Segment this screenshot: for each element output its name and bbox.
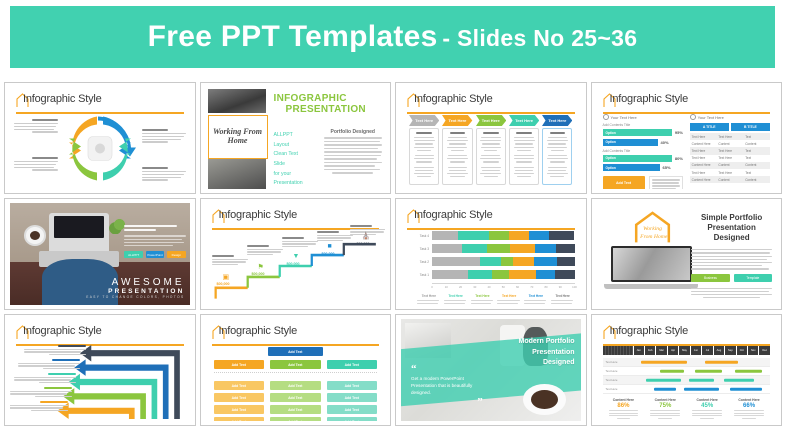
tick: 50 [502, 285, 505, 289]
slide-title-text-7: Infographic Style [414, 209, 493, 221]
org-child-box[interactable]: Add Text [327, 417, 378, 421]
table-row: Content HereContentContent [690, 140, 770, 147]
stat-value: 86% [603, 403, 645, 409]
bar-row: Option 65% [603, 164, 683, 171]
quote-open-mark: “ [411, 366, 483, 373]
cell: Text Here [716, 133, 743, 140]
heading-line-2: Presentation [519, 348, 575, 359]
cell: Text Here [716, 147, 743, 154]
legend-item: Text Here [444, 294, 468, 305]
cell: Content Here [690, 162, 717, 169]
title-underline [212, 344, 380, 346]
pin-icon: ▼ [293, 253, 300, 260]
stat-item: Content Here 45% [686, 398, 728, 419]
gantt-chart: Jan Feb Mar Apr May Jun Jul Aug Sep Oct … [603, 346, 771, 418]
slide-title-text-6: Infographic Style [219, 209, 298, 221]
heading-line-2: Presentation [691, 223, 772, 233]
org-mid-box[interactable]: Add Text [327, 360, 378, 369]
cell: Text Here [690, 133, 717, 140]
frame-text-line2: Home [227, 136, 247, 145]
step-value-5: $00,000 [357, 242, 370, 246]
chart-legend: Text Here Text Here Text Here Text Here … [417, 294, 575, 305]
banner-title-sub: - Slides No 25~36 [442, 25, 637, 51]
bar-label: Option [606, 131, 616, 135]
slide-thumbnail-5[interactable]: ALLPPT PowerPoint Design AWESOME PRESENT… [4, 198, 196, 310]
banner-title-main: Free PPT Templates [148, 20, 438, 53]
list-item: Layout [274, 141, 316, 151]
table-row: Text HereText HereText [690, 133, 770, 140]
list-item: Presentation [274, 179, 316, 189]
template-button[interactable]: Template [734, 274, 772, 282]
slide-gallery-page: Free PPT Templates - Slides No 25~36 Inf… [0, 0, 786, 430]
button-row: Add Text [603, 176, 683, 189]
callout-text-4 [142, 167, 186, 182]
row-label: Text Here [603, 387, 636, 391]
month-cell: Aug [714, 346, 724, 355]
org-mid-box[interactable]: Add Text [214, 360, 265, 369]
coffee-cup [523, 384, 566, 415]
heading-line-1: Simple Portfolio [691, 213, 772, 223]
button-row: Business Template [691, 274, 772, 282]
bar-percent: 65% [663, 165, 671, 170]
frame-text-line1: Working From [213, 127, 262, 136]
gantt-row: Text Here [603, 358, 771, 367]
feature-list: ALLPPT Layout Clean Text Slide for your … [274, 131, 316, 189]
tick: 80 [544, 285, 547, 289]
column-1: Text Here [409, 115, 439, 185]
org-child-box[interactable]: Add Text [270, 381, 321, 390]
headline-block: AWESOME PRESENTATION EASY TO CHANGE COLO… [86, 277, 184, 299]
tick: 60 [516, 285, 519, 289]
list-item: Clean Text [274, 150, 316, 160]
arrow-text-4 [10, 387, 72, 399]
screen-photo [613, 248, 690, 280]
table-header-cell: A TITLE [690, 123, 729, 131]
step-value-4: $00,000 [322, 252, 335, 256]
month-cell: Oct [737, 346, 747, 355]
month-cell: Jan [634, 346, 644, 355]
org-child-box[interactable]: Add Text [327, 381, 378, 390]
slide-thumbnail-12[interactable]: Infographic Style Jan Feb Mar Apr May Ju… [591, 314, 783, 426]
banner-title: Free PPT Templates - Slides No 25~36 [148, 20, 638, 54]
org-chart: Add Text Add Text Add Text Add Text Add … [214, 347, 378, 417]
staircase-diagram: $00,000 $00,000 $00,000 $00,000 $00,000 … [210, 229, 382, 303]
stat-title: Content Here [728, 398, 770, 402]
org-child-row: Add Text Add Text Add Text [214, 381, 378, 390]
tick: 10 [445, 285, 448, 289]
tick: 0 [431, 285, 433, 289]
portfolio-text-panel: Simple Portfolio Presentation Designed B… [691, 213, 772, 298]
title-underline [407, 112, 575, 114]
coffee-cup [24, 225, 46, 245]
slide-thumbnail-9[interactable]: Infographic Style [4, 314, 196, 426]
cell: Content [743, 140, 770, 147]
step-text-3 [282, 237, 320, 249]
arrow-text-3 [14, 373, 76, 385]
table-row: Text HereText HereText [690, 155, 770, 162]
column-header-3: Text Here [476, 115, 506, 126]
tick: 70 [530, 285, 533, 289]
slide-title-text-10: Infographic Style [219, 325, 298, 337]
column-3: Text Here [476, 115, 506, 185]
left-caption: Your Text Here [603, 114, 683, 120]
column-header-label: Text Here [448, 118, 466, 123]
stats-row: Content Here 86% Content Here 75% Conten… [603, 398, 771, 419]
month-cell: Nov [748, 346, 758, 355]
cell: Content [716, 162, 743, 169]
chart-row: Task 3 [407, 244, 575, 253]
month-cell: Feb [645, 346, 655, 355]
row-label: Text Here [603, 360, 636, 364]
table-row: Content HereContentContent [690, 162, 770, 169]
slide-title-10: Infographic Style [212, 324, 380, 346]
gantt-row: Text Here [603, 367, 771, 376]
quote-close-mark: ” [411, 399, 483, 406]
headline: AWESOME [86, 277, 184, 288]
cell: Text [743, 147, 770, 154]
cell: Text Here [690, 169, 717, 176]
step-value-3: $00,000 [287, 262, 300, 266]
list-item: for your [274, 170, 316, 180]
cell: Content [716, 140, 743, 147]
row-label: Task 3 [407, 247, 432, 251]
bar-row: Option 80% [603, 155, 683, 162]
title-underline [407, 228, 575, 230]
bar-percent: 40% [661, 140, 669, 145]
row-label: Text Here [603, 369, 636, 373]
stat-item: Content Here 66% [728, 398, 770, 419]
slide-title-text-1: Infographic Style [23, 93, 102, 105]
gantt-track [636, 358, 771, 366]
stat-title: Content Here [686, 398, 728, 402]
tick: 20 [459, 285, 462, 289]
cell: Content Here [690, 176, 717, 183]
column-header-5: Text Here [542, 115, 572, 126]
gift-icon: ▣ [223, 273, 230, 281]
group-subtitle-2: Add Contents Title [603, 149, 683, 153]
circular-process-diagram [10, 113, 190, 189]
legend-item: Text Here [417, 294, 441, 305]
photo-stack: Working From Home [208, 89, 266, 187]
month-cell: Jun [691, 346, 701, 355]
org-mid-box[interactable]: Add Text [270, 360, 321, 369]
slide-thumbnail-4[interactable]: Infographic Style Your Text Here Add Con… [591, 82, 783, 194]
bar-percent: 95% [675, 130, 683, 135]
column-body-2 [442, 128, 472, 185]
right-caption: Your Text Here [690, 114, 770, 120]
slide-thumbnail-6[interactable]: Infographic Style $00,000 $00,000 $00,00… [200, 198, 392, 310]
step-text-2 [247, 245, 285, 257]
working-from-home-frame: Working From Home [208, 115, 268, 159]
stat-value: 66% [728, 403, 770, 409]
tag-button[interactable]: ALLPPT [124, 251, 142, 258]
legend-item: Text Here [497, 294, 521, 305]
quote-block: “ Get a modern PowerPoint Presentation t… [411, 366, 483, 405]
building-icon: ⛪ [362, 232, 371, 240]
photo-top [208, 89, 266, 113]
page-banner: Free PPT Templates - Slides No 25~36 [10, 6, 775, 68]
legend-label: Text Here [524, 294, 548, 298]
chart-x-axis: 0 10 20 30 40 50 60 70 80 90 100 [432, 283, 575, 292]
arrow-text-2 [18, 359, 80, 371]
cell: Text [743, 169, 770, 176]
cell: Text [743, 133, 770, 140]
step-text-1 [212, 255, 250, 267]
org-top-row: Add Text [214, 347, 378, 356]
column-body-5 [542, 128, 572, 185]
stat-title: Content Here [603, 398, 645, 402]
arrow-text-1 [24, 345, 86, 357]
column-header-2: Text Here [442, 115, 472, 126]
heading-line-3: Designed [691, 233, 772, 243]
stat-value: 45% [686, 403, 728, 409]
laptop-mockup [611, 246, 692, 289]
slide-title-2: INFOGRAPHIC PRESENTATION [274, 93, 382, 115]
legend-item: Text Here [551, 294, 575, 305]
bar-percent: 80% [675, 156, 683, 161]
desk-photo: Modern Portfolio Presentation Designed “… [401, 319, 581, 421]
stat-item: Content Here 75% [644, 398, 686, 419]
tag-button[interactable]: Design [167, 251, 185, 258]
month-cell: Dec [759, 346, 769, 355]
row-label: Task 2 [407, 260, 432, 264]
business-button[interactable]: Business [691, 274, 729, 282]
tagline: EASY TO CHANGE COLORS, PHOTOS [86, 295, 184, 299]
column-2: Text Here [442, 115, 472, 185]
column-header-label: Text Here [515, 118, 533, 123]
title-line-2: PRESENTATION [286, 104, 382, 115]
list-item: Slide [274, 160, 316, 170]
row-label: Text Here [603, 378, 636, 382]
legend-label: Text Here [417, 294, 441, 298]
cell: Content [743, 162, 770, 169]
column-body-1 [409, 128, 439, 185]
org-child-box[interactable]: Add Text [270, 393, 321, 402]
step-value-2: $00,000 [252, 272, 265, 276]
title-line-1: INFOGRAPHIC [274, 93, 382, 104]
cell: Text Here [690, 155, 717, 162]
circle-bullet-icon [603, 114, 609, 120]
bar-label: Option [606, 156, 616, 160]
gantt-row: Text Here [603, 385, 771, 394]
cell: Content [716, 176, 743, 183]
legend-item: Text Here [524, 294, 548, 305]
thumbnail-grid: Infographic Style [4, 82, 782, 426]
portfolio-paragraph: Portfolio Designed [324, 129, 383, 174]
table-header-row: A TITLE B TITLE [690, 123, 770, 131]
table-row: Content HereContentContent [690, 176, 770, 183]
add-text-button[interactable]: Add Text [603, 176, 645, 189]
column-5: Text Here [542, 115, 572, 185]
tick: 100 [572, 285, 577, 289]
tick: 30 [473, 285, 476, 289]
briefcase-icon: ■ [328, 243, 332, 250]
column-body-4 [509, 128, 539, 185]
legend-label: Text Here [444, 294, 468, 298]
photo-bottom [208, 159, 266, 189]
laptop-screen [49, 213, 108, 254]
five-column-layout: Text Here Text Here [409, 115, 573, 185]
legend-label: Text Here [551, 294, 575, 298]
progress-bars-panel: Your Text Here Add Contents Title Option… [603, 114, 683, 189]
org-child-box[interactable]: Add Text [214, 405, 265, 414]
tick: 90 [559, 285, 562, 289]
progress-and-table-area: Your Text Here Add Contents Title Option… [603, 114, 771, 185]
table-row: Text HereText HereText [690, 169, 770, 176]
stacked-bar [432, 270, 575, 279]
heading-line-1: Modern Portfolio [519, 337, 575, 348]
callout-text-2 [14, 157, 58, 172]
chart-row: Task 2 [407, 257, 575, 266]
callout-text-1 [14, 119, 58, 134]
slide-thumbnail-11[interactable]: Modern Portfolio Presentation Designed “… [395, 314, 587, 426]
slide-thumbnail-10[interactable]: Infographic Style Add Text Add Text Add … [200, 314, 392, 426]
month-cell: Jul [702, 346, 712, 355]
bar-row: Option 95% [603, 129, 683, 136]
slide-title-3: Infographic Style [407, 92, 575, 114]
circular-arrows [61, 113, 139, 190]
slide-title-4: Infographic Style [603, 92, 771, 114]
slide-title-12: Infographic Style [603, 324, 771, 346]
legend-label: Text Here [497, 294, 521, 298]
month-cell: Sep [725, 346, 735, 355]
laptop-base [604, 284, 698, 289]
footer-paragraph [691, 288, 772, 299]
subheadline: PRESENTATION [86, 288, 184, 295]
org-child-box[interactable]: Add Text [327, 405, 378, 414]
slide-title-text-9: Infographic Style [23, 325, 102, 337]
body-paragraph [691, 249, 772, 269]
slide-title-9: Infographic Style [16, 324, 184, 346]
left-caption-text: Your Text Here [611, 115, 637, 120]
overlay-text-block: ALLPPT PowerPoint Design [124, 225, 185, 258]
stacked-bar-chart: Task 4 Task 3 Task 2 [407, 231, 575, 301]
gantt-row: Text Here [603, 376, 771, 385]
row-label: Task 1 [407, 273, 432, 277]
callout-text-3 [142, 129, 186, 144]
cell: Text Here [716, 169, 743, 176]
org-child-box[interactable]: Add Text [214, 381, 265, 390]
list-item: ALLPPT [274, 131, 316, 141]
stat-title: Content Here [644, 398, 686, 402]
cell: Content Here [690, 140, 717, 147]
arrow-text-5 [10, 401, 68, 413]
column-body-3 [476, 128, 506, 185]
slide-thumbnail-3[interactable]: Infographic Style Text Here [395, 82, 587, 194]
group-subtitle-1: Add Contents Title [603, 123, 683, 127]
circle-bullet-icon [690, 114, 696, 120]
heading-block: Modern Portfolio Presentation Designed [519, 337, 575, 369]
bar-label: Option [606, 140, 616, 144]
slide-thumbnail-8[interactable]: Working From Home Simple Portfolio Prese… [591, 198, 783, 310]
chart-row: Task 4 [407, 231, 575, 240]
chart-row: Task 1 [407, 270, 575, 279]
svg-text:From Home: From Home [639, 234, 668, 240]
laptop-screen [611, 246, 692, 282]
tag-button-row: ALLPPT PowerPoint Design [124, 251, 185, 258]
org-mid-row: Add Text Add Text Add Text [214, 360, 378, 369]
slide-title-text-3: Infographic Style [414, 93, 493, 105]
stacked-bar [432, 231, 575, 240]
svg-text:Working: Working [643, 226, 662, 232]
working-from-home-logo: Working From Home [622, 211, 683, 244]
org-child-box[interactable]: Add Text [214, 417, 265, 421]
slide-thumbnail-7[interactable]: Infographic Style Task 4 Task 3 [395, 198, 587, 310]
gantt-track [636, 385, 771, 393]
desk-photo: ALLPPT PowerPoint Design AWESOME PRESENT… [10, 203, 190, 305]
cell: Text Here [690, 147, 717, 154]
row-label: Task 4 [407, 234, 432, 238]
column-header-1: Text Here [409, 115, 439, 126]
org-top-box[interactable]: Add Text [268, 347, 323, 356]
column-header-label: Text Here [415, 118, 433, 123]
slide-thumbnail-1[interactable]: Infographic Style [4, 82, 196, 194]
slide-title-text-4: Infographic Style [610, 93, 689, 105]
note-box [649, 176, 683, 189]
stacked-bar [432, 244, 575, 253]
cell: Text [743, 155, 770, 162]
slide-title-1: Infographic Style [16, 92, 184, 114]
column-header-4: Text Here [509, 115, 539, 126]
bar-row: Option 40% [603, 139, 683, 146]
gantt-track [636, 376, 771, 384]
paragraph-heading: Portfolio Designed [324, 129, 383, 135]
slide-title-text-12: Infographic Style [610, 325, 689, 337]
month-cell: Apr [668, 346, 678, 355]
stat-value: 75% [644, 403, 686, 409]
slide-thumbnail-2[interactable]: Working From Home INFOGRAPHIC PRESENTATI… [200, 82, 392, 194]
gantt-header: Jan Feb Mar Apr May Jun Jul Aug Sep Oct … [603, 346, 771, 355]
column-4: Text Here [509, 115, 539, 185]
tick: 40 [487, 285, 490, 289]
cell: Content [743, 176, 770, 183]
legend-item: Text Here [471, 294, 495, 305]
table-row: Text HereText HereText [690, 147, 770, 154]
table-header-cell: B TITLE [731, 123, 770, 131]
tag-button[interactable]: PowerPoint [146, 251, 164, 258]
comparison-table-panel: Your Text Here A TITLE B TITLE Text Here… [690, 114, 770, 183]
stacked-bar [432, 257, 575, 266]
leaf-icon: ⚑ [258, 263, 264, 271]
org-child-row: Add Text Add Text Add Text [214, 393, 378, 402]
stat-item: Content Here 86% [603, 398, 645, 419]
legend-label: Text Here [471, 294, 495, 298]
nested-arrows-diagram [14, 345, 186, 419]
right-caption-text: Your Text Here [698, 115, 724, 120]
bar-label: Option [606, 166, 616, 170]
org-child-row: Add Text Add Text Add Text [214, 417, 378, 421]
header-spacer [603, 346, 633, 355]
org-child-row: Add Text Add Text Add Text [214, 405, 378, 414]
month-cell: Mar [656, 346, 666, 355]
heading-line-3: Designed [519, 358, 575, 369]
gantt-track [636, 367, 771, 375]
column-header-label: Text Here [482, 118, 500, 123]
org-child-box[interactable]: Add Text [270, 405, 321, 414]
quote-text: Get a modern PowerPoint Presentation tha… [411, 375, 483, 397]
org-child-box[interactable]: Add Text [327, 393, 378, 402]
org-child-box[interactable]: Add Text [270, 417, 321, 421]
column-header-label: Text Here [548, 118, 566, 123]
step-value-1: $00,000 [217, 282, 230, 286]
cell: Text Here [716, 155, 743, 162]
month-cell: May [679, 346, 689, 355]
slide-title-7: Infographic Style [407, 208, 575, 230]
org-child-box[interactable]: Add Text [214, 393, 265, 402]
